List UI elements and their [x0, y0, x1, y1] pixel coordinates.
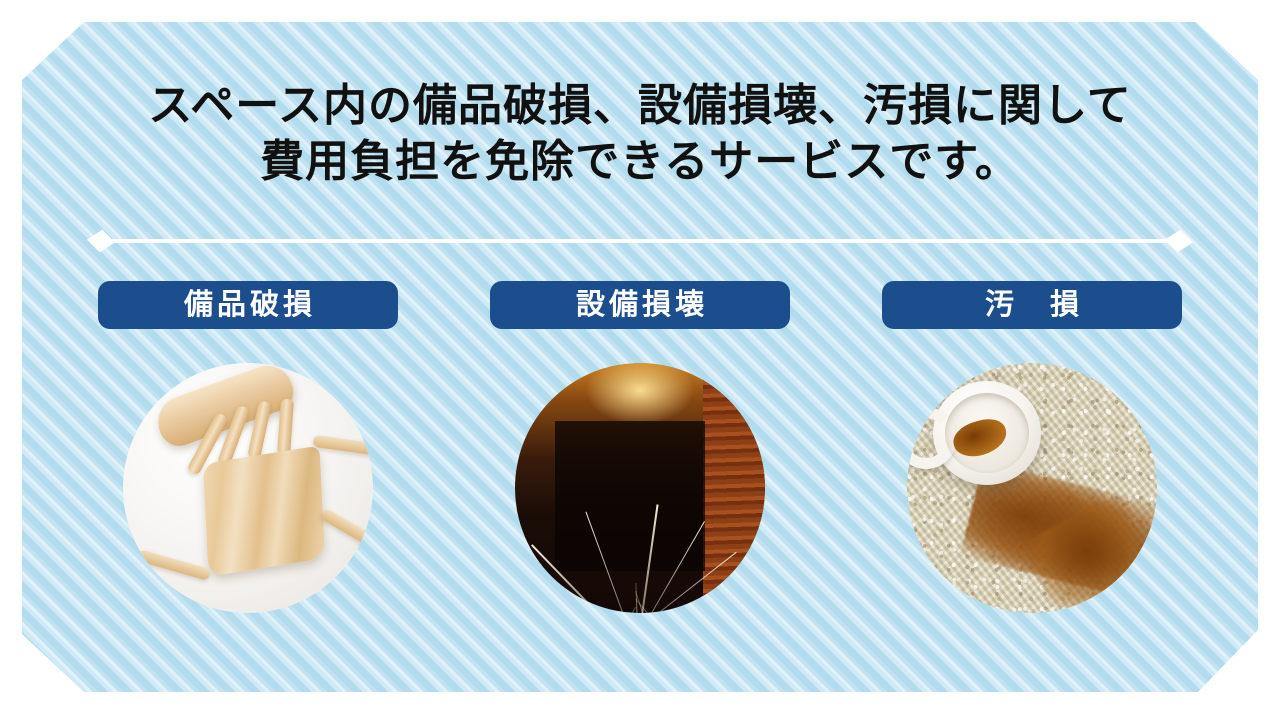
chair-seat — [203, 446, 325, 577]
wood-frame — [703, 363, 765, 613]
damage-category-list: 備品破損 設備損壊 — [98, 281, 1182, 641]
headline-line-2: 費用負担を免除できるサービスです。 — [0, 134, 1280, 190]
chair-illustration — [123, 363, 373, 613]
headline-line-1: スペース内の備品破損、設備損壊、汚損に関して — [0, 78, 1280, 134]
broken-wooden-chair-photo — [123, 363, 373, 613]
chair-slat — [277, 399, 294, 456]
slide-root: スペース内の備品破損、設備損壊、汚損に関して 費用負担を免除できるサービスです。… — [0, 0, 1280, 720]
divider-rule — [110, 239, 1170, 243]
category-badge-bihin-hason: 備品破損 — [98, 281, 398, 329]
coffee-spill-carpet-photo — [907, 363, 1157, 613]
shattered-glass-photo — [515, 363, 765, 613]
chair-leg — [320, 508, 373, 546]
category-badge-setsubi-sonkai: 設備損壊 — [490, 281, 790, 329]
page-title: スペース内の備品破損、設備損壊、汚損に関して 費用負担を免除できるサービスです。 — [0, 78, 1280, 190]
chair-leg — [312, 435, 373, 456]
carpet-illustration — [907, 363, 1157, 613]
damage-category-item-0: 備品破損 — [98, 281, 398, 329]
damage-category-item-1: 設備損壊 — [490, 281, 790, 329]
category-badge-oson: 汚 損 — [882, 281, 1182, 329]
glass-illustration — [515, 363, 765, 613]
divider — [92, 232, 1188, 250]
dark-panel — [555, 421, 705, 571]
damage-category-item-2: 汚 損 — [882, 281, 1182, 329]
chair-leg — [137, 549, 211, 581]
light-reflection — [585, 363, 695, 425]
